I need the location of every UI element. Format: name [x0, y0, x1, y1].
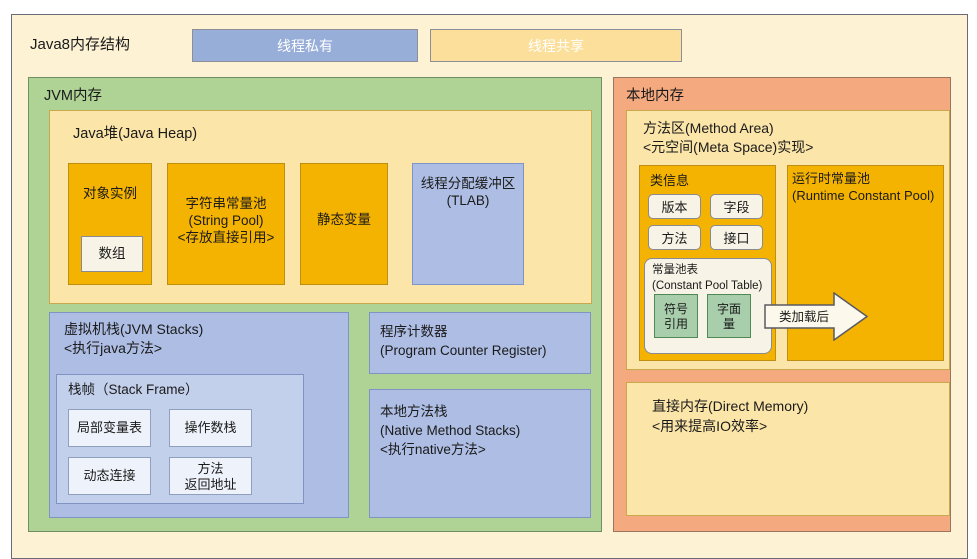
- heap-tlab: 线程分配缓冲区 (TLAB): [412, 163, 524, 285]
- jvm-memory-title: JVM内存: [44, 84, 284, 108]
- operand-stack: 操作数栈: [169, 409, 252, 447]
- heap-static-variables-label: 静态变量: [301, 164, 387, 229]
- local-variable-table: 局部变量表: [68, 409, 151, 447]
- operand-stack-label: 操作数栈: [170, 410, 251, 436]
- symbolic-reference-label: 符号 引用: [655, 295, 697, 332]
- heap-object-instance: 对象实例 数组: [68, 163, 152, 285]
- stack-frame-title: 栈帧（Stack Frame）: [68, 379, 288, 401]
- class-info-title: 类信息: [650, 171, 750, 191]
- heap-tlab-label: 线程分配缓冲区 (TLAB): [413, 164, 523, 210]
- native-method-stacks-label: 本地方法栈 (Native Method Stacks) <执行native方法…: [370, 390, 590, 459]
- class-info-interface: 接口: [710, 225, 763, 250]
- legend-thread-shared: 线程共享: [430, 29, 682, 62]
- class-info-version: 版本: [648, 194, 701, 219]
- heap-string-pool-label: 字符串常量池 (String Pool) <存放直接引用>: [168, 164, 284, 247]
- java-heap-title: Java堆(Java Heap): [73, 122, 373, 146]
- method-area-title: 方法区(Method Area) <元空间(Meta Space)实现>: [643, 119, 943, 159]
- literal-value: 字面 量: [707, 294, 751, 338]
- heap-string-pool: 字符串常量池 (String Pool) <存放直接引用>: [167, 163, 285, 285]
- legend-thread-private: 线程私有: [192, 29, 418, 62]
- heap-static-variables: 静态变量: [300, 163, 388, 285]
- native-method-stacks: 本地方法栈 (Native Method Stacks) <执行native方法…: [369, 389, 591, 518]
- class-info-method: 方法: [648, 225, 701, 250]
- program-counter-register: 程序计数器 (Program Counter Register): [369, 312, 591, 374]
- dynamic-linking-label: 动态连接: [69, 458, 150, 484]
- dynamic-linking: 动态连接: [68, 457, 151, 495]
- constant-pool-table-title: 常量池表 (Constant Pool Table): [652, 262, 772, 296]
- class-load-arrow-label: 类加载后: [771, 307, 837, 327]
- heap-array-box: 数组: [81, 236, 143, 272]
- local-variable-table-label: 局部变量表: [69, 410, 150, 436]
- literal-value-label: 字面 量: [708, 295, 750, 332]
- direct-memory-label: 直接内存(Direct Memory) <用来提高IO效率>: [652, 396, 942, 440]
- method-return-address-label: 方法 返回地址: [170, 458, 251, 492]
- method-return-address: 方法 返回地址: [169, 457, 252, 495]
- page-title: Java8内存结构: [30, 30, 190, 60]
- class-info-field: 字段: [710, 194, 763, 219]
- program-counter-register-label: 程序计数器 (Program Counter Register): [370, 313, 590, 360]
- symbolic-reference: 符号 引用: [654, 294, 698, 338]
- jvm-stacks-title: 虚拟机栈(JVM Stacks) <执行java方法>: [64, 320, 324, 360]
- heap-object-instance-label: 对象实例: [69, 164, 151, 203]
- runtime-constant-pool-label: 运行时常量池 (Runtime Constant Pool): [792, 170, 952, 210]
- native-memory-title: 本地内存: [626, 84, 826, 108]
